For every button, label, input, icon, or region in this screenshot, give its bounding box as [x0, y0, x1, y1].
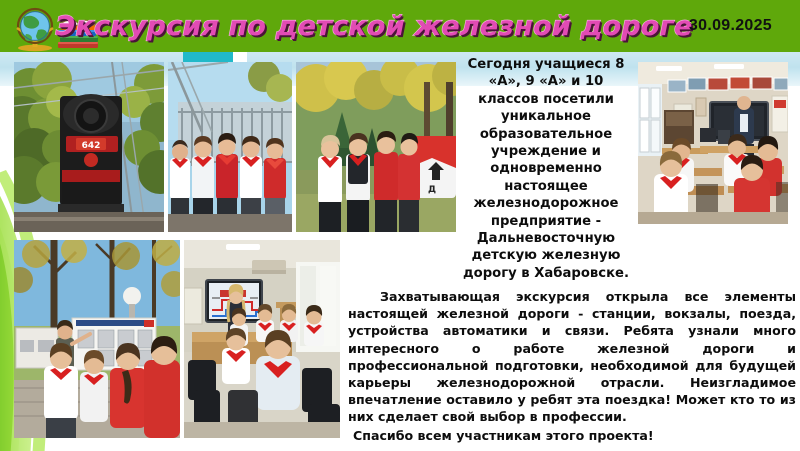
svg-text:642: 642: [82, 141, 101, 151]
body-paragraph-2: Спасибо всем участникам этого проекта!: [348, 427, 796, 444]
svg-text:Д: Д: [428, 185, 436, 195]
photo-students-fence: [168, 62, 292, 232]
photo-lecture-hall: [184, 240, 340, 438]
photo-students-outdoors: Д: [296, 62, 456, 232]
body-paragraph-1: Захватывающая экскурсия открыла все элем…: [348, 288, 796, 426]
slide-canvas: Экскурсия по детской железной дороге 30.…: [0, 0, 800, 451]
intro-paragraph: Сегодня учащиеся 8 «А», 9 «А» и 10 класс…: [460, 56, 632, 282]
body-text-block: Захватывающая экскурсия открыла все элем…: [348, 288, 796, 444]
photo-info-stand: [14, 240, 180, 438]
photo-locomotive: 642: [14, 62, 164, 232]
header-date: 30.09.2025: [689, 0, 772, 52]
photo-classroom: [638, 62, 788, 224]
page-title: Экскурсия по детской железной дороге: [104, 2, 644, 50]
slide-header: Экскурсия по детской железной дороге 30.…: [0, 0, 800, 52]
